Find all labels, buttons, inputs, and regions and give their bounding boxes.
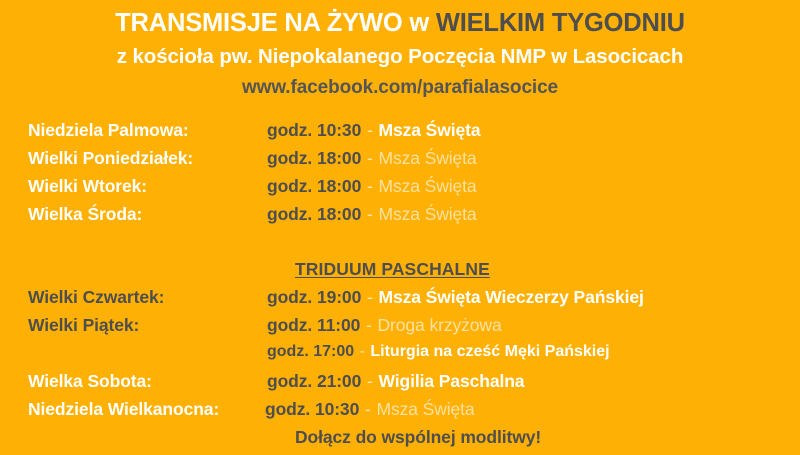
poster-header: TRANSMISJE NA ŻYWO w WIELKIM TYGODNIU z … bbox=[0, 0, 800, 99]
schedule-dash: - bbox=[365, 315, 373, 335]
call-to-action: Dołącz do wspólnej modlitwy! bbox=[28, 427, 800, 455]
schedule-dash: - bbox=[366, 204, 374, 224]
schedule-description: Msza Święta bbox=[378, 148, 476, 168]
schedule-row: Wielki Poniedziałek: godz. 18:00 - Msza … bbox=[28, 148, 800, 176]
schedule-detail: godz. 10:30 - Msza Święta bbox=[267, 120, 480, 141]
schedule-dash: - bbox=[364, 399, 372, 419]
schedule-dash: - bbox=[366, 148, 374, 168]
schedule-dash: - bbox=[366, 287, 374, 307]
schedule-time: godz. 17:00 bbox=[267, 343, 354, 360]
schedule-day-label: Wielki Wtorek: bbox=[28, 176, 267, 197]
schedule-description: Wigilia Paschalna bbox=[378, 371, 524, 391]
schedule-detail: godz. 11:00 - Droga krzyżowa bbox=[267, 315, 502, 336]
call-to-action-label: Dołącz do wspólnej modlitwy! bbox=[295, 427, 541, 447]
schedule-row-continuation: godz. 17:00 - Liturgia na cześć Męki Pań… bbox=[28, 343, 800, 371]
schedule-row: Niedziela Palmowa: godz. 10:30 - Msza Św… bbox=[28, 120, 800, 148]
schedule-description: Msza Święta Wieczerzy Pańskiej bbox=[378, 287, 643, 307]
schedule-detail: godz. 19:00 - Msza Święta Wieczerzy Pańs… bbox=[267, 287, 644, 308]
schedule-detail: godz. 17:00 - Liturgia na cześć Męki Pań… bbox=[267, 343, 610, 371]
schedule-day-label: Niedziela Palmowa: bbox=[28, 120, 267, 141]
facebook-url: www.facebook.com/parafialasocice bbox=[0, 77, 800, 99]
schedule-dash: - bbox=[359, 343, 366, 360]
schedule-list: Niedziela Palmowa: godz. 10:30 - Msza Św… bbox=[0, 120, 800, 455]
title-dark-part: WIELKIM TYGODNIU bbox=[436, 9, 685, 37]
schedule-dash: - bbox=[366, 176, 374, 196]
schedule-day-label: Wielka Sobota: bbox=[28, 371, 267, 392]
schedule-day-label: Wielki Czwartek: bbox=[28, 287, 267, 308]
schedule-day-label: Niedziela Wielkanocna: bbox=[28, 399, 265, 420]
schedule-day-spacer bbox=[28, 343, 267, 371]
schedule-description: Liturgia na cześć Męki Pańskiej bbox=[370, 343, 609, 360]
schedule-row: Wielki Czwartek: godz. 19:00 - Msza Świę… bbox=[28, 287, 800, 315]
schedule-detail: godz. 18:00 - Msza Święta bbox=[267, 204, 477, 225]
schedule-dash: - bbox=[366, 120, 374, 140]
page-title: TRANSMISJE NA ŻYWO w WIELKIM TYGODNIU bbox=[0, 9, 800, 39]
schedule-description: Msza Święta bbox=[378, 176, 476, 196]
schedule-detail: godz. 18:00 - Msza Święta bbox=[267, 148, 477, 169]
schedule-row: Wielka Środa: godz. 18:00 - Msza Święta bbox=[28, 204, 800, 232]
schedule-row: Niedziela Wielkanocna: godz. 10:30 - Msz… bbox=[28, 399, 800, 427]
schedule-description: Msza Święta bbox=[378, 204, 476, 224]
schedule-time: godz. 18:00 bbox=[267, 204, 361, 224]
schedule-spacer bbox=[28, 232, 800, 259]
schedule-detail: godz. 21:00 - Wigilia Paschalna bbox=[267, 371, 524, 392]
poster-canvas: TRANSMISJE NA ŻYWO w WIELKIM TYGODNIU z … bbox=[0, 0, 800, 450]
schedule-detail: godz. 10:30 - Msza Święta bbox=[265, 399, 475, 420]
schedule-detail: godz. 18:00 - Msza Święta bbox=[267, 176, 477, 197]
title-light-part: TRANSMISJE NA ŻYWO w bbox=[115, 9, 436, 37]
schedule-time: godz. 10:30 bbox=[265, 399, 359, 419]
schedule-row: Wielki Piątek: godz. 11:00 - Droga krzyż… bbox=[28, 315, 800, 343]
schedule-description: Droga krzyżowa bbox=[378, 315, 502, 335]
schedule-time: godz. 10:30 bbox=[267, 120, 361, 140]
schedule-time: godz. 18:00 bbox=[267, 148, 361, 168]
schedule-description: Msza Święta bbox=[376, 399, 474, 419]
schedule-dash: - bbox=[366, 371, 374, 391]
section-heading-label: TRIDUUM PASCHALNE bbox=[295, 259, 490, 279]
schedule-time: godz. 21:00 bbox=[267, 371, 361, 391]
schedule-day-label: Wielka Środa: bbox=[28, 204, 267, 225]
schedule-time: godz. 19:00 bbox=[267, 287, 361, 307]
page-subtitle: z kościoła pw. Niepokalanego Poczęcia NM… bbox=[0, 45, 800, 70]
schedule-day-label: Wielki Poniedziałek: bbox=[28, 148, 267, 169]
schedule-row: Wielka Sobota: godz. 21:00 - Wigilia Pas… bbox=[28, 371, 800, 399]
schedule-description: Msza Święta bbox=[378, 120, 480, 140]
schedule-row: Wielki Wtorek: godz. 18:00 - Msza Święta bbox=[28, 176, 800, 204]
schedule-day-label: Wielki Piątek: bbox=[28, 315, 267, 336]
schedule-time: godz. 11:00 bbox=[267, 315, 360, 335]
schedule-time: godz. 18:00 bbox=[267, 176, 361, 196]
section-heading-triduum: TRIDUUM PASCHALNE bbox=[28, 259, 800, 287]
